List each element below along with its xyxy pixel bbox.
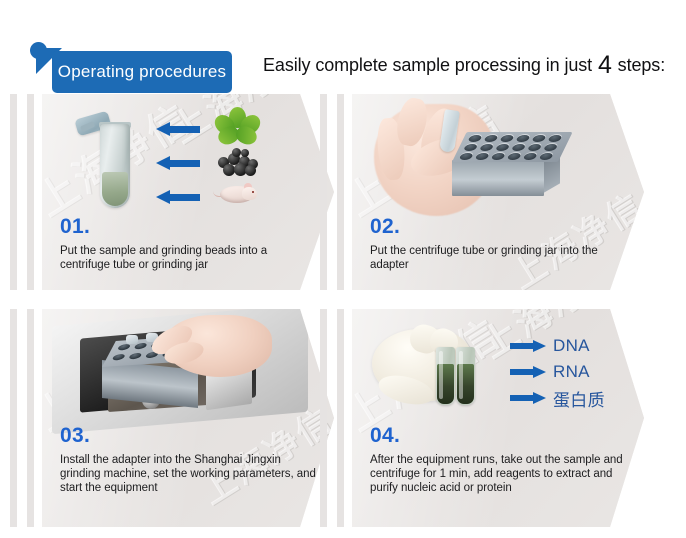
scene-installing-adapter-into-machine xyxy=(46,311,318,427)
page-title: Easily complete sample processing in jus… xyxy=(263,51,665,80)
block-front xyxy=(452,160,544,196)
block-hole-grid xyxy=(456,135,569,161)
card-body: 上海净信 上海净信 xyxy=(42,94,334,290)
step-number: 03. xyxy=(60,425,316,446)
step-card-03: 上海净信 上海净信 xyxy=(10,301,340,533)
tube-cap xyxy=(126,335,138,344)
sample-tube-icon xyxy=(456,347,475,405)
arrow-right-icon xyxy=(510,340,546,352)
arrow-left-icon xyxy=(156,122,200,136)
card-body: 上海净信 上海净信 xyxy=(352,94,644,290)
step-number: 01. xyxy=(60,216,316,237)
output-labels: DNA RNA 蛋白质 xyxy=(510,333,644,411)
output-row: DNA xyxy=(510,333,644,359)
step-description: After the equipment runs, take out the s… xyxy=(370,453,626,495)
card-stripe xyxy=(320,94,327,290)
page-title-after: steps: xyxy=(613,55,665,75)
step-description: Install the adapter into the Shanghai Ji… xyxy=(60,453,316,495)
lab-mouse-icon xyxy=(212,178,264,210)
step-number: 02. xyxy=(370,216,626,237)
step-caption: 02. Put the centrifuge tube or grinding … xyxy=(370,216,626,272)
card-stripe xyxy=(27,309,34,527)
page-title-step-count: 4 xyxy=(597,51,613,79)
scene-hand-inserting-tube-into-adapter xyxy=(366,96,634,220)
grinding-beads-icon xyxy=(212,145,264,177)
arrow-right-icon xyxy=(510,392,546,404)
step-description: Put the centrifuge tube or grinding jar … xyxy=(370,244,626,272)
output-label: DNA xyxy=(553,336,590,356)
arrow-right-icon xyxy=(510,366,546,378)
card-body: 上海净信 上海净信 xyxy=(42,309,334,527)
card-stripe xyxy=(337,94,344,290)
step-caption: 04. After the equipment runs, take out t… xyxy=(370,425,626,495)
step-card-01: 上海净信 上海净信 xyxy=(10,86,340,296)
operating-procedures-infographic: Operating procedures Easily complete sam… xyxy=(0,0,686,538)
scene-centrifuge-tube-and-sources xyxy=(48,100,288,218)
plant-leaf-icon xyxy=(212,110,264,142)
step-caption: 01. Put the sample and grinding beads in… xyxy=(60,216,316,272)
scene-gloved-hand-with-sample-tubes: DNA RNA 蛋白质 xyxy=(372,323,644,435)
badge-label: Operating procedures xyxy=(58,62,226,82)
step-description: Put the sample and grinding beads into a… xyxy=(60,244,316,272)
output-row: 蛋白质 xyxy=(510,385,644,411)
tube-contents xyxy=(102,172,128,206)
steps-grid: 上海净信 上海净信 xyxy=(0,86,686,538)
step-card-04: 上海净信 上海净信 xyxy=(320,301,650,533)
card-stripe xyxy=(320,309,327,527)
tube-body xyxy=(100,124,130,208)
card-stripe xyxy=(337,309,344,527)
output-row: RNA xyxy=(510,359,644,385)
step-number: 04. xyxy=(370,425,626,446)
card-stripe xyxy=(27,94,34,290)
step-card-02: 上海净信 上海净信 xyxy=(320,86,650,296)
centrifuge-tube-icon xyxy=(100,116,130,208)
adapter-block xyxy=(452,132,558,194)
card-body: 上海净信 上海净信 xyxy=(352,309,644,527)
arrow-left-icon xyxy=(156,190,200,204)
output-label: RNA xyxy=(553,362,590,382)
tube-hinge xyxy=(80,121,95,132)
sample-tube-icon xyxy=(436,347,455,405)
card-stripe xyxy=(10,94,17,290)
page-title-before: Easily complete sample processing in jus… xyxy=(263,55,597,75)
step-caption: 03. Install the adapter into the Shangha… xyxy=(60,425,316,495)
arrow-left-icon xyxy=(156,156,200,170)
card-stripe xyxy=(10,309,17,527)
header: Operating procedures Easily complete sam… xyxy=(0,18,686,76)
output-label: 蛋白质 xyxy=(553,386,605,411)
